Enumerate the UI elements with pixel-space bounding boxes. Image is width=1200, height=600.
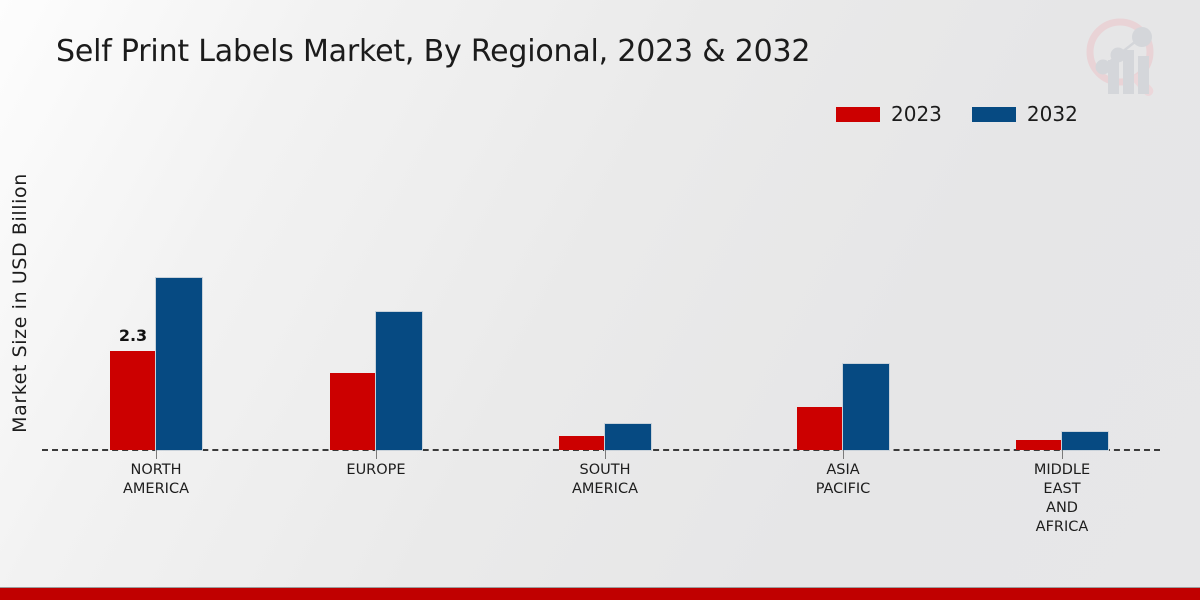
bar-2023-europe[interactable] bbox=[330, 373, 376, 450]
bar-2032-asia-pacific[interactable] bbox=[843, 364, 889, 450]
category-label-line: ASIA bbox=[826, 462, 859, 478]
legend-item-2023[interactable]: 2023 bbox=[836, 104, 942, 124]
bar-2032-north-america[interactable] bbox=[156, 278, 202, 450]
category-label-line: AND bbox=[1046, 500, 1078, 516]
legend-label-2023: 2023 bbox=[891, 104, 942, 124]
x-axis-tick bbox=[376, 450, 377, 459]
category-label-north-america: NORTHAMERICA bbox=[66, 461, 246, 499]
plot-area bbox=[42, 140, 1160, 450]
category-label-line: SOUTH bbox=[580, 462, 631, 478]
category-label-line: EUROPE bbox=[346, 462, 405, 478]
market-research-magnifier-logo bbox=[1070, 8, 1174, 104]
page-title: Self Print Labels Market, By Regional, 2… bbox=[56, 34, 810, 69]
y-axis-title: Market Size in USD Billion bbox=[9, 138, 31, 468]
bar-value-label: 2.3 bbox=[119, 326, 147, 345]
chart-page: Self Print Labels Market, By Regional, 2… bbox=[0, 0, 1200, 600]
bar-2023-middle-east-and-africa[interactable] bbox=[1016, 440, 1062, 450]
bar-2032-south-america[interactable] bbox=[605, 424, 651, 450]
legend-label-2032: 2032 bbox=[1027, 104, 1078, 124]
category-label-line: MIDDLE bbox=[1034, 462, 1090, 478]
legend-item-2032[interactable]: 2032 bbox=[972, 104, 1078, 124]
x-axis-tick bbox=[843, 450, 844, 459]
category-label-south-america: SOUTHAMERICA bbox=[515, 461, 695, 499]
x-axis-tick bbox=[605, 450, 606, 459]
category-label-line: AMERICA bbox=[123, 481, 189, 497]
category-label-line: NORTH bbox=[130, 462, 181, 478]
bar-2032-europe[interactable] bbox=[376, 312, 422, 450]
bar-2023-asia-pacific[interactable] bbox=[797, 407, 843, 450]
category-label-line: AMERICA bbox=[572, 481, 638, 497]
legend-swatch-2023 bbox=[836, 107, 880, 122]
x-axis-tick bbox=[1062, 450, 1063, 459]
bottom-accent-band bbox=[0, 587, 1200, 600]
category-label-europe: EUROPE bbox=[286, 461, 466, 480]
legend-swatch-2032 bbox=[972, 107, 1016, 122]
x-axis-tick bbox=[156, 450, 157, 459]
chart-legend: 2023 2032 bbox=[836, 104, 1078, 124]
bar-2023-south-america[interactable] bbox=[559, 436, 605, 450]
category-label-middle-east-and-africa: MIDDLEEASTANDAFRICA bbox=[972, 461, 1152, 537]
category-label-line: AFRICA bbox=[1036, 519, 1089, 535]
category-label-line: EAST bbox=[1043, 481, 1080, 497]
bar-2023-north-america[interactable]: 2.3 bbox=[110, 351, 156, 450]
bar-2032-middle-east-and-africa[interactable] bbox=[1062, 432, 1108, 450]
category-label-asia-pacific: ASIAPACIFIC bbox=[753, 461, 933, 499]
category-label-line: PACIFIC bbox=[816, 481, 871, 497]
